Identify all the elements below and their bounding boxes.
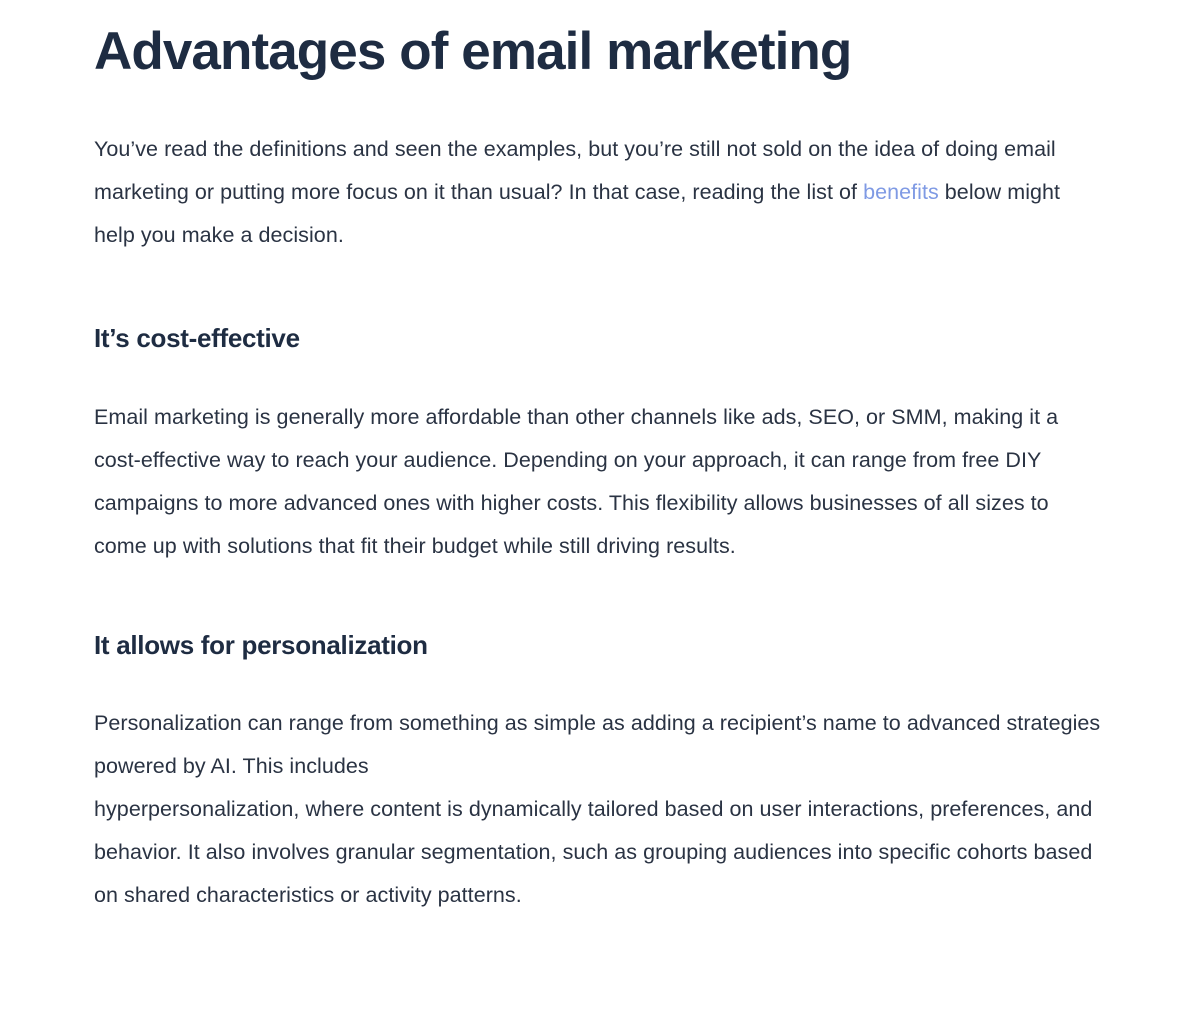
section-body-personalization-part-2: hyperpersonalization, where content is d… [94,797,1092,907]
section-body-cost-effective: Email marketing is generally more afford… [94,396,1105,568]
page-title: Advantages of email marketing [94,22,1105,82]
section-body-personalization-part-1: Personalization can range from something… [94,711,1100,778]
section-personalization: It allows for personalization Personaliz… [94,629,1105,918]
section-heading-personalization: It allows for personalization [94,629,1105,662]
section-heading-cost-effective: It’s cost-effective [94,322,1105,355]
section-cost-effective: It’s cost-effective Email marketing is g… [94,322,1105,568]
intro-paragraph: You’ve read the definitions and seen the… [94,128,1105,257]
section-body-personalization: Personalization can range from something… [94,702,1105,917]
benefits-link[interactable]: benefits [863,180,939,204]
article-content: Advantages of email marketing You’ve rea… [0,22,1194,917]
